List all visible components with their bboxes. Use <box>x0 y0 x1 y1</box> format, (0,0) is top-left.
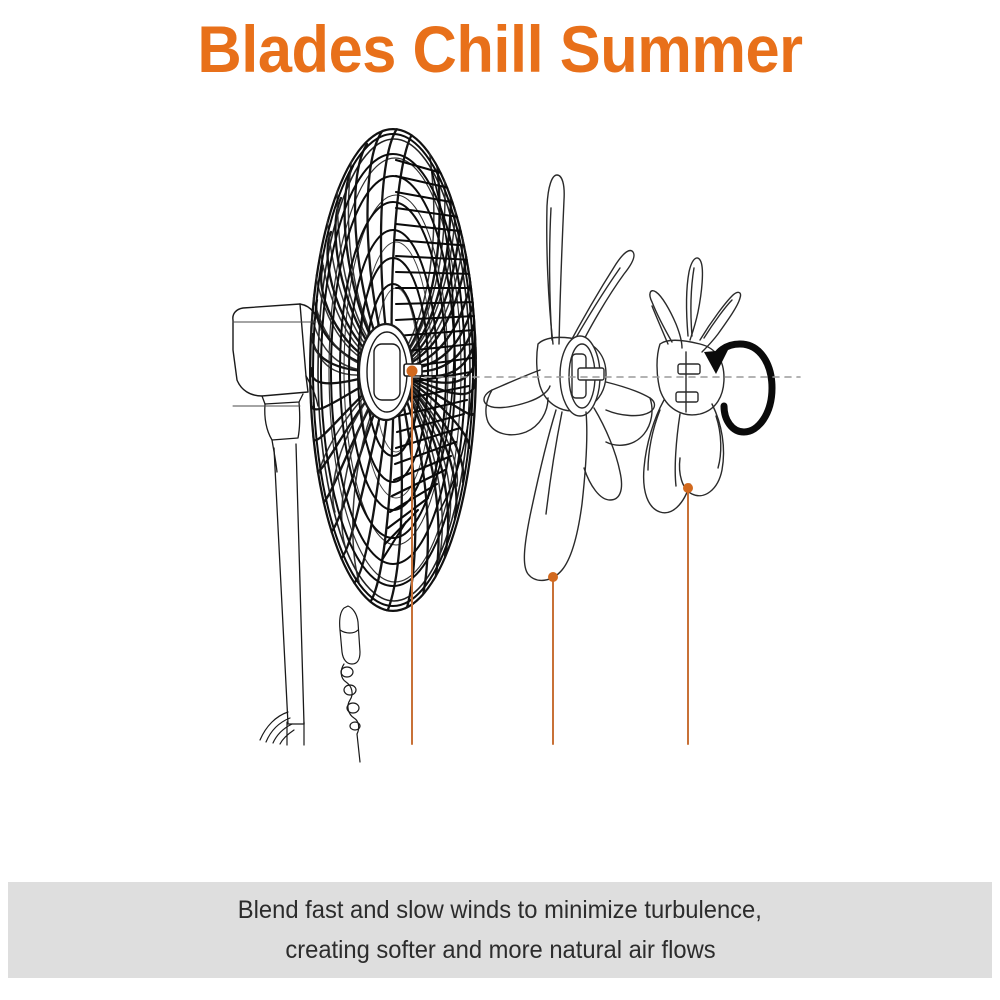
caption-line-1: Blend fast and slow winds to minimize tu… <box>238 890 762 930</box>
housing-connector <box>233 322 316 406</box>
motor-housing <box>233 304 320 406</box>
right-blade-assembly <box>644 258 741 513</box>
fan-pole <box>274 444 304 724</box>
caption-line-2: creating softer and more natural air flo… <box>285 930 715 970</box>
pull-chain <box>340 606 360 762</box>
pole-base <box>260 712 304 745</box>
fan-exploded-diagram <box>0 0 1000 1000</box>
product-feature-image: Blades Chill Summer <box>0 0 1000 1000</box>
caption-band: Blend fast and slow winds to minimize tu… <box>8 882 992 978</box>
rotation-arrowhead <box>704 350 728 374</box>
fan-grille <box>307 126 481 620</box>
